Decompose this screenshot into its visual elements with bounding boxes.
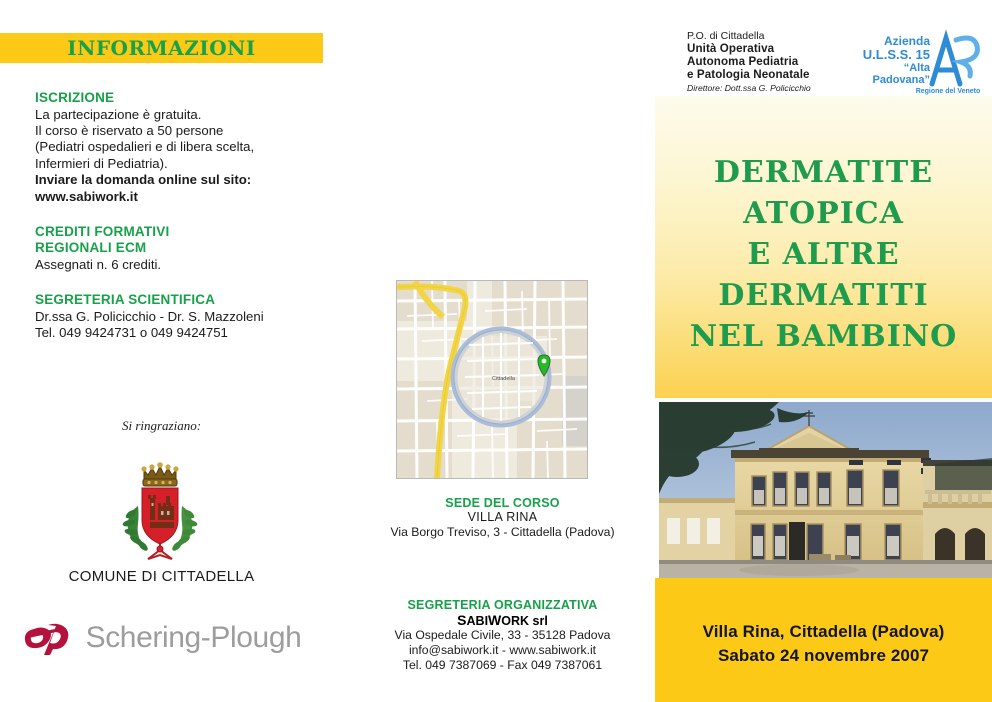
segreteria-scientifica-heading: SEGRETERIA SCIENTIFICA — [35, 292, 310, 308]
organizer-company-abi: ABI — [467, 614, 489, 628]
iscrizione-line-5: Inviare la domanda online sul sito: — [35, 172, 310, 188]
thanks-label: Si ringraziano: — [0, 418, 323, 434]
iscrizione-line-1: La partecipazione è gratuita. — [35, 107, 310, 123]
organizer-phone: Tel. 049 7387069 - Fax 049 7387061 — [350, 658, 655, 673]
iscrizione-website[interactable]: www.sabiwork.it — [35, 189, 310, 205]
brochure-page: INFORMAZIONI ISCRIZIONE La partecipazion… — [0, 0, 992, 702]
organizer-block: SEGRETERIA ORGANIZZATIVA SABIWORK srl Vi… — [350, 598, 655, 673]
informazioni-banner: INFORMAZIONI — [0, 33, 323, 63]
hospital-line-2: Unità Operativa — [687, 42, 811, 55]
organizer-address: Via Ospedale Civile, 33 - 35128 Padova — [350, 628, 655, 643]
organizer-company-srl: srl — [529, 614, 548, 628]
iscrizione-line-3: (Pediatri ospedalieri e di libera scelta… — [35, 139, 310, 155]
section-iscrizione: ISCRIZIONE La partecipazione è gratuita.… — [35, 90, 310, 205]
section-crediti-formativi: CREDITI FORMATIVI REGIONALI ECM Assegnat… — [35, 224, 310, 273]
left-panel-content: ISCRIZIONE La partecipazione è gratuita.… — [35, 90, 310, 361]
ulss-logo-line-5: Regione del Veneto — [916, 88, 981, 95]
footer-location: Villa Rina, Cittadella (Padova) — [655, 620, 992, 644]
venue-name: VILLA RINA — [350, 510, 655, 525]
informazioni-banner-title: INFORMAZIONI — [67, 36, 256, 60]
venue-heading: SEDE DEL CORSO — [350, 496, 655, 510]
title-line-5: NEL BAMBINO — [655, 316, 992, 357]
iscrizione-line-2: Il corso è riservato a 50 persone — [35, 123, 310, 139]
villa-rina-building-image — [659, 402, 992, 578]
ulss-logo-line-2: U.L.S.S. 15 — [863, 47, 930, 62]
middle-panel: Cittadella SEDE DEL CORSO VILLA RINA Via… — [350, 0, 655, 702]
hospital-line-1: P.O. di Cittadella — [687, 30, 811, 42]
map-city-label: Cittadella — [492, 376, 516, 382]
ulss-logo-line-1: Azienda — [884, 34, 930, 48]
segreteria-scientifica-names: Dr.ssa G. Policicchio - Dr. S. Mazzoleni — [35, 309, 310, 325]
ulss-logo-line-3: “Alta — [904, 62, 931, 74]
organizer-company-w: W — [488, 612, 501, 628]
conference-title: DERMATITE ATOPICA E ALTRE DERMATITI NEL … — [655, 152, 992, 357]
segreteria-scientifica-phone: Tel. 049 9424731 o 049 9424751 — [35, 325, 310, 341]
organizer-heading: SEGRETERIA ORGANIZZATIVA — [350, 598, 655, 612]
organizer-contact[interactable]: info@sabiwork.it - www.sabiwork.it — [350, 643, 655, 658]
cittadella-street-map-icon: Cittadella — [397, 281, 587, 478]
organizer-company-s: S — [457, 612, 466, 628]
organizer-company: SABIWORK srl — [350, 612, 655, 628]
hospital-director: Direttore: Dott.ssa G. Policicchio — [687, 83, 811, 94]
title-line-3: E ALTRE — [655, 234, 992, 275]
hospital-line-3: Autonoma Pediatria — [687, 55, 811, 68]
title-line-1: DERMATITE — [655, 152, 992, 193]
comune-di-cittadella-label: COMUNE DI CITTADELLA — [0, 568, 323, 585]
hospital-line-4: e Patologia Neonatale — [687, 68, 811, 81]
footer-date: Sabato 24 novembre 2007 — [655, 644, 992, 668]
section-segreteria-scientifica: SEGRETERIA SCIENTIFICA Dr.ssa G. Policic… — [35, 292, 310, 341]
title-line-2: ATOPICA — [655, 193, 992, 234]
event-footer: Villa Rina, Cittadella (Padova) Sabato 2… — [655, 620, 992, 668]
schering-plough-logo: Schering-Plough — [0, 615, 323, 661]
comune-crest-wrap — [0, 458, 323, 562]
venue-address: Via Borgo Treviso, 3 - Cittadella (Padov… — [350, 525, 655, 540]
ulss-alta-padovana-logo-icon: Azienda U.L.S.S. 15 “Alta Padovana” Regi… — [860, 26, 985, 96]
cittadella-coat-of-arms-icon — [114, 458, 210, 562]
section-iscrizione-heading: ISCRIZIONE — [35, 90, 310, 106]
hospital-unit-text: P.O. di Cittadella Unità Operativa Auton… — [687, 30, 811, 94]
schering-plough-monogram-icon — [22, 615, 76, 661]
crediti-heading-line-2: REGIONALI ECM — [35, 240, 310, 256]
crediti-heading-line-1: CREDITI FORMATIVI — [35, 224, 310, 240]
schering-plough-wordmark: Schering-Plough — [86, 621, 302, 655]
organizer-company-ork: ORK — [501, 614, 529, 628]
villa-rina-photo — [659, 402, 992, 578]
ulss-logo-line-4: Padovana” — [873, 74, 930, 86]
title-line-4: DERMATITI — [655, 275, 992, 316]
crediti-line-1: Assegnati n. 6 crediti. — [35, 257, 310, 273]
location-map[interactable]: Cittadella — [396, 280, 588, 479]
left-panel: INFORMAZIONI ISCRIZIONE La partecipazion… — [0, 0, 350, 702]
venue-block: SEDE DEL CORSO VILLA RINA Via Borgo Trev… — [350, 496, 655, 540]
iscrizione-line-4: Infermieri di Pediatria). — [35, 156, 310, 172]
right-panel-header: P.O. di Cittadella Unità Operativa Auton… — [655, 22, 992, 96]
